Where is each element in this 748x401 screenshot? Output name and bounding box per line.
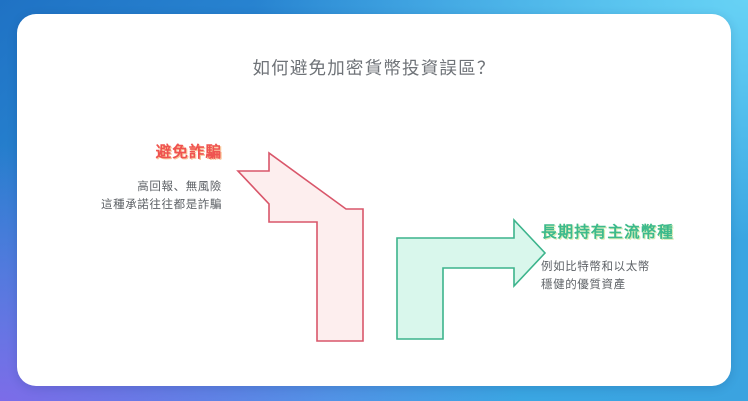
content-card: 如何避免加密貨幣投資誤區？ 避免詐騙 高回報、無風險 這種承諾往往都是詐騙 長期…	[17, 14, 731, 386]
bent-right-arrow-icon	[397, 220, 545, 339]
long-term-hold-body-line-1: 例如比特幣和以太幣	[541, 259, 731, 277]
long-term-hold-heading: 長期持有主流幣種	[541, 220, 731, 242]
long-term-hold-section: 長期持有主流幣種 例如比特幣和以太幣 穩健的優質資產	[541, 220, 731, 295]
bent-left-arrow-icon	[238, 153, 363, 341]
slide-canvas: 如何避免加密貨幣投資誤區？ 避免詐騙 高回報、無風險 這種承諾往往都是詐騙 長期…	[0, 0, 748, 401]
avoid-scam-section: 避免詐騙 高回報、無風險 這種承諾往往都是詐騙	[35, 140, 222, 215]
avoid-scam-heading: 避免詐騙	[35, 140, 222, 162]
avoid-scam-body-line-2: 這種承諾往往都是詐騙	[35, 197, 222, 215]
avoid-scam-body: 高回報、無風險 這種承諾往往都是詐騙	[35, 179, 222, 215]
avoid-scam-body-line-1: 高回報、無風險	[35, 179, 222, 197]
long-term-hold-body-line-2: 穩健的優質資產	[541, 277, 731, 295]
long-term-hold-body: 例如比特幣和以太幣 穩健的優質資產	[541, 259, 731, 295]
page-title: 如何避免加密貨幣投資誤區？	[17, 55, 731, 80]
